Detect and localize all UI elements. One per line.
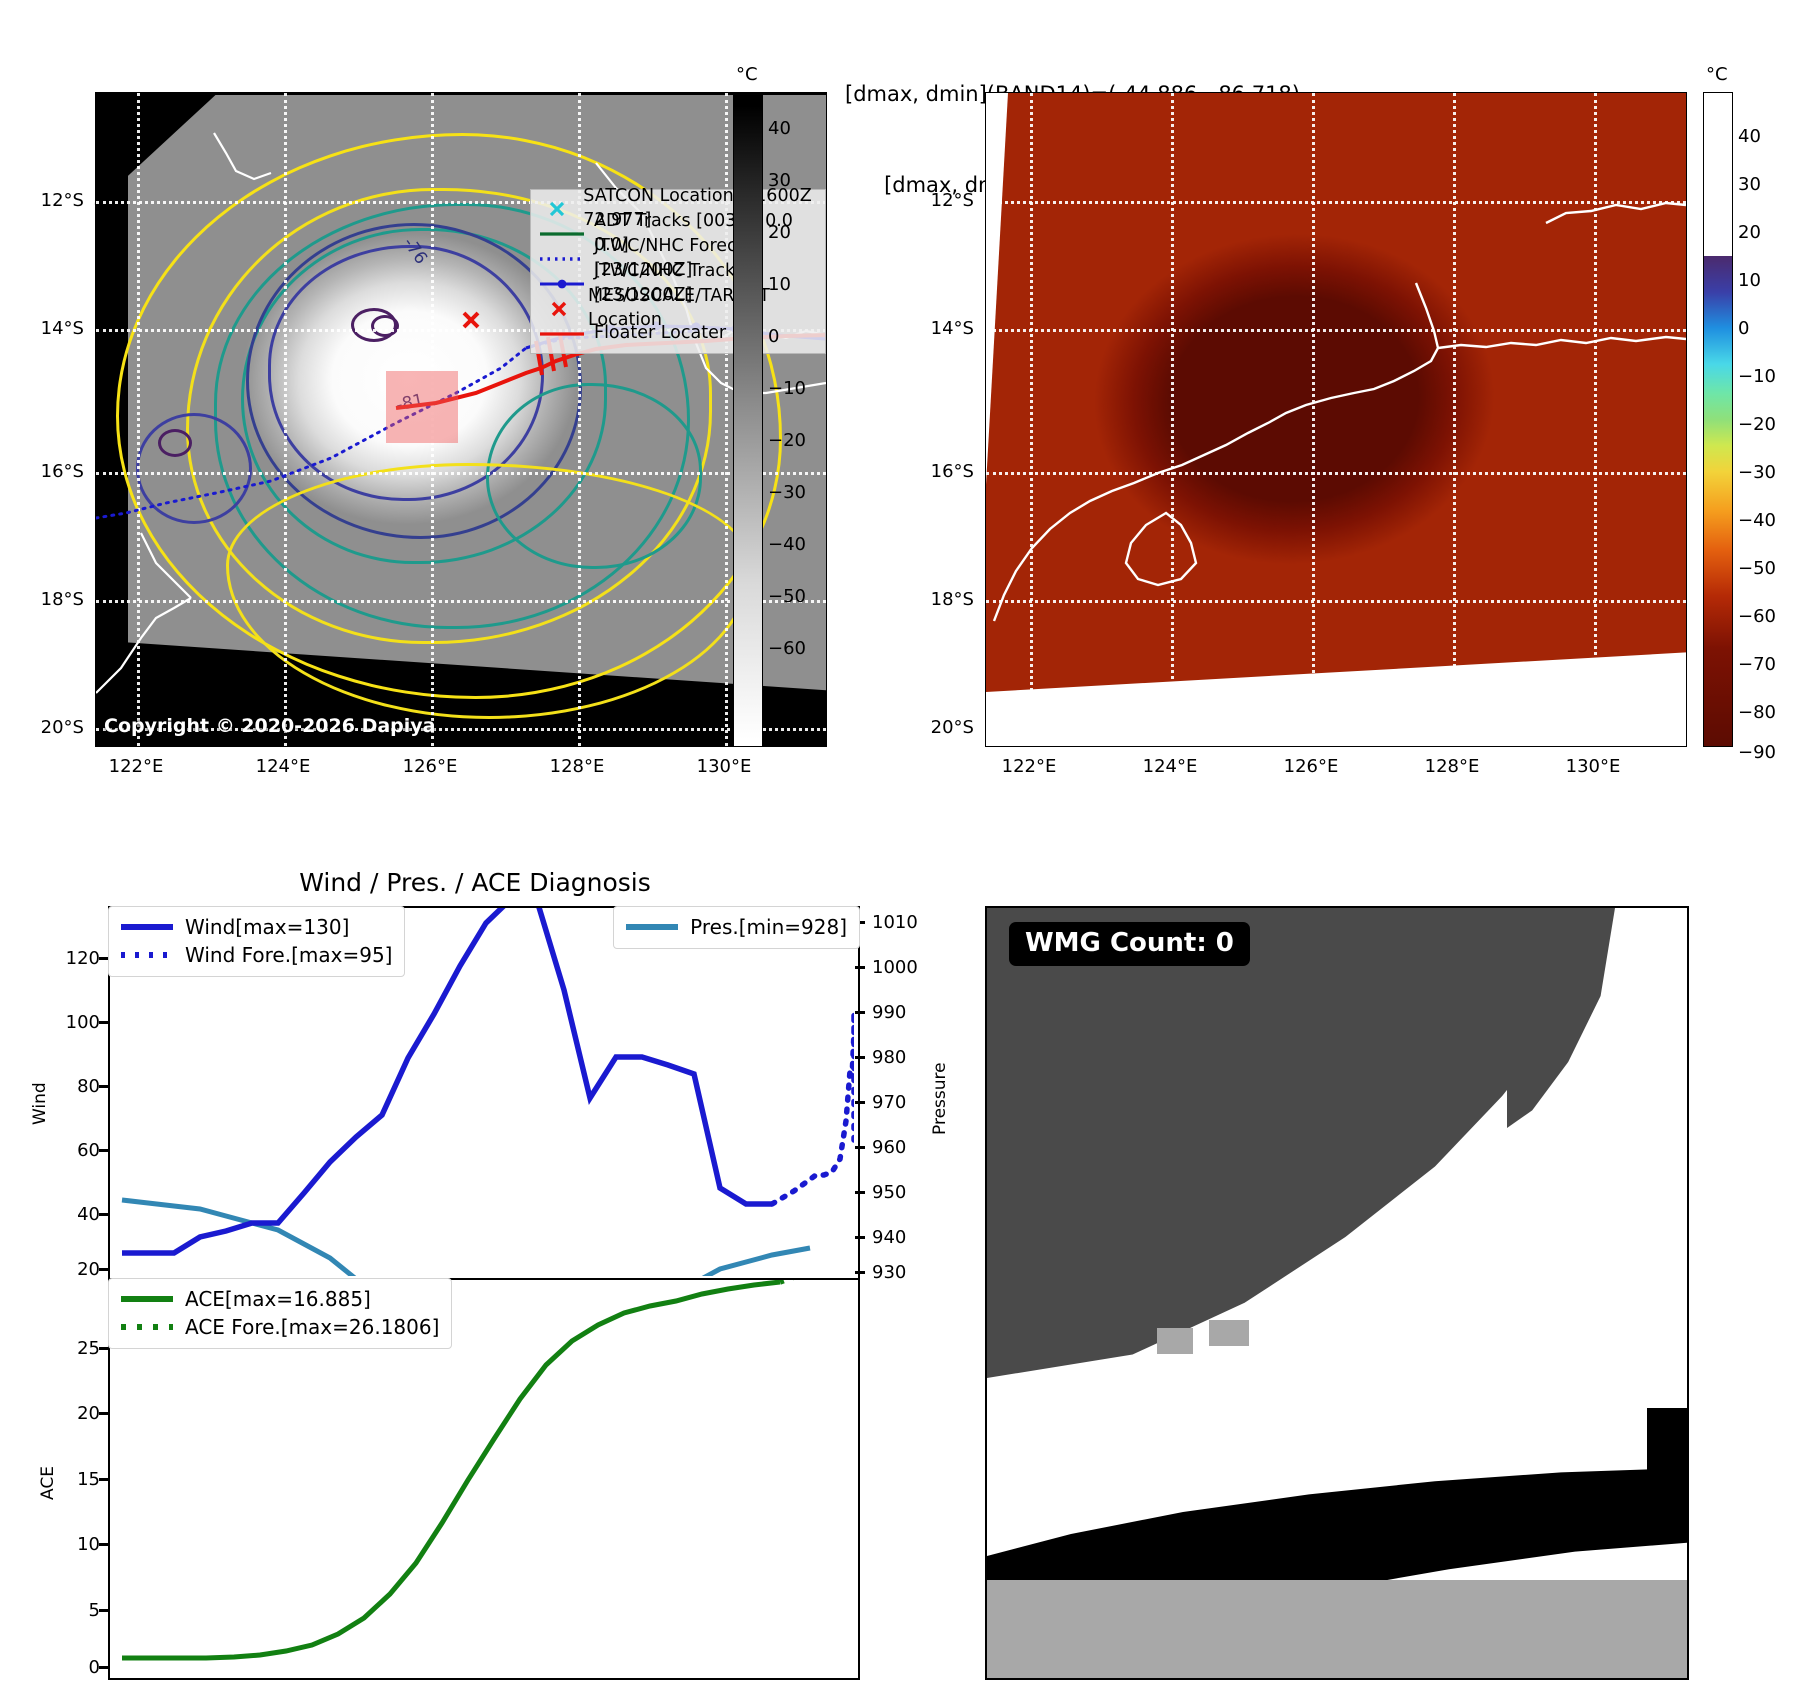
pressure-legend[interactable]: Pres.[min=928] [613,906,860,949]
awv-lon-label-130E: 130°E [1553,756,1633,777]
cbar-ir-tick: 30 [1738,174,1761,195]
lat-label-12S: 12°S [14,190,84,211]
cbar-gray-tick: 0 [768,326,779,347]
pressure-ytick: 940 [872,1227,932,1248]
gridline-124E [1171,93,1174,746]
cbar-gray-tick: −50 [768,586,806,607]
cbar-gray-tick: −40 [768,534,806,555]
wind-tickmark [99,1149,109,1152]
ace-ytick: 15 [44,1469,100,1490]
wmg-region-lightgray-patch-d [1453,1608,1483,1632]
ace-ytick: 10 [44,1534,100,1555]
jtwc-track-line-dot-icon [539,278,585,290]
gridline-18S [986,600,1686,603]
cbar-gray-tick: 30 [768,170,791,191]
gridline-14S [986,329,1686,332]
lon-label-124E: 124°E [243,756,323,777]
ace-tickmark [99,1609,109,1612]
cbar-ir-tick: −10 [1738,366,1776,387]
pressure-tickmark [855,1101,865,1104]
gridline-130E [1594,93,1597,746]
pressure-tickmark [855,1271,865,1274]
legend-item-wind[interactable]: Wind[max=130] [119,913,392,941]
pressure-tickmark [855,1011,865,1014]
wmg-region-darkgray-right [1507,908,1687,1128]
awv-lat-label-20S: 20°S [904,717,974,738]
legend-item-wind-forecast[interactable]: Wind Fore.[max=95] [119,941,392,969]
awv-lat-label-14S: 14°S [904,318,974,339]
wmg-region-lightgray-patch-c [1391,1614,1425,1638]
mesoscale-target-marker [464,313,478,327]
pressure-ytick: 990 [872,1002,932,1023]
pressure-ytick: 1010 [872,912,932,933]
cbar-gray-tick: 20 [768,222,791,243]
lat-label-16S: 16°S [14,461,84,482]
cbar-ir-tick: −40 [1738,510,1776,531]
wmg-region-black-right [1647,1408,1689,1478]
gridline-128E [1453,93,1456,746]
enhanced-ir-colorbar [1703,92,1733,747]
map-legend: SATCON Locations [1600Z 72 977] ADT Trac… [530,189,826,354]
copyright-text: Copyright © 2020-2026 Dapiya [104,715,435,737]
cbar-gray-tick: −10 [768,378,806,399]
jtwc-forecast-dotted-icon [539,255,585,263]
ace-tickmark [99,1412,109,1415]
wind-ytick: 20 [44,1259,100,1280]
cbar-ir-tick: 0 [1738,318,1749,339]
cbar-gray-tick: −20 [768,430,806,451]
awv-lon-label-128E: 128°E [1412,756,1492,777]
ace-line-icon [119,1294,175,1304]
mesoscale-x-icon [539,299,579,319]
wmg-panel[interactable]: WMG Count: 0 [985,906,1689,1680]
himawari-band14-map[interactable]: -76 -81 Copyright © 2020-2026 Dapiya [95,92,827,747]
wmg-region-darkgray [987,908,1547,1378]
lat-label-20S: 20°S [14,717,84,738]
cbar-ir-tick: −80 [1738,702,1776,723]
cbar-ir-tick: −70 [1738,654,1776,675]
ace-forecast-dotted-icon [119,1322,175,1332]
ace-legend[interactable]: ACE[max=16.885] ACE Fore.[max=26.1806] [108,1278,452,1349]
legend-item-ace[interactable]: ACE[max=16.885] [119,1285,439,1313]
lat-label-14S: 14°S [14,318,84,339]
cbar-ir-tick: −90 [1738,742,1776,763]
ace-forecast-line [780,1280,854,1282]
legend-item-pressure[interactable]: Pres.[min=928] [624,913,847,941]
floater-line-icon [539,330,585,338]
ace-chart[interactable]: ACE[max=16.885] ACE Fore.[max=26.1806] [108,1278,860,1680]
legend-label: ACE[max=16.885] [185,1285,371,1313]
wind-ytick: 120 [44,948,100,969]
awv-lat-label-18S: 18°S [904,589,974,610]
legend-item-mesoscale[interactable]: MESOSCALE/TARGET Location [539,296,815,321]
wind-ytick: 60 [44,1140,100,1161]
pressure-tickmark [855,1236,865,1239]
awv-lat-label-16S: 16°S [904,461,974,482]
wmg-region-midgray-patch-a [1157,1328,1193,1354]
awv-lon-label-126E: 126°E [1271,756,1351,777]
pressure-ytick: 1000 [872,957,932,978]
legend-label: ACE Fore.[max=26.1806] [185,1313,439,1341]
wind-pressure-chart[interactable]: Wind[max=130] Wind Fore.[max=95] Pres.[m… [108,906,860,1282]
wind-ytick: 40 [44,1204,100,1225]
cbar-ir-tick: 20 [1738,222,1761,243]
legend-label: Wind[max=130] [185,913,349,941]
legend-label: Wind Fore.[max=95] [185,941,392,969]
adt-line-icon [539,230,585,238]
pressure-ytick: 980 [872,1047,932,1068]
ir-colorbar-title: °C [1706,64,1728,85]
awv-coastline-overlay [986,93,1686,746]
cbar-ir-tick: 10 [1738,270,1761,291]
wmg-region-midgray-patch-b [1209,1320,1249,1346]
wind-tickmark [99,1213,109,1216]
cbar-ir-tick: −30 [1738,462,1776,483]
lon-label-126E: 126°E [390,756,470,777]
lon-label-128E: 128°E [537,756,617,777]
gridline-126E [1312,93,1315,746]
ace-ytick: 25 [44,1338,100,1359]
awv-lat-label-12S: 12°S [904,190,974,211]
gridline-122E [1030,93,1033,746]
cbar-ir-tick: −60 [1738,606,1776,627]
target-area-box[interactable] [386,371,458,443]
awv-lon-label-124E: 124°E [1130,756,1210,777]
ace-ytick: 20 [44,1403,100,1424]
pressure-tickmark [855,966,865,969]
cbar-gray-tick: −80 [768,728,806,749]
ace-tickmark [99,1347,109,1350]
wind-forecast-dotted-icon [119,950,175,960]
cbar-gray-tick: −60 [768,638,806,659]
legend-item-ace-forecast[interactable]: ACE Fore.[max=26.1806] [119,1313,439,1341]
awv-lon-label-122E: 122°E [989,756,1069,777]
pressure-ytick: 960 [872,1137,932,1158]
pressure-ytick: 970 [872,1092,932,1113]
pressure-tickmark [855,1146,865,1149]
pressure-line [122,1200,810,1276]
wind-legend[interactable]: Wind[max=130] Wind Fore.[max=95] [108,906,405,977]
wind-ytick: 100 [44,1012,100,1033]
gridline-12S [986,201,1686,204]
cbar-gray-tick: −30 [768,482,806,503]
cbar-ir-tick: −50 [1738,558,1776,579]
awv-enhanced-ir-map[interactable] [985,92,1687,747]
cbar-gray-tick: −70 [768,690,806,711]
ace-ytick: 5 [44,1600,100,1621]
legend-label: Floater Locater [594,322,726,345]
lon-label-122E: 122°E [96,756,176,777]
lon-label-130E: 130°E [684,756,764,777]
cbar-gray-tick: 10 [768,274,791,295]
pressure-ytick: 930 [872,1262,932,1283]
gridline-16S [986,472,1686,475]
cbar-gray-tick: 40 [768,118,791,139]
diagnosis-title: Wind / Pres. / ACE Diagnosis [95,868,855,897]
pressure-axis-label: Pressure [930,1062,950,1135]
lat-label-18S: 18°S [14,589,84,610]
satcon-x-icon [539,199,574,219]
pressure-tickmark [855,1191,865,1194]
wind-tickmark [99,1268,109,1271]
wind-tickmark [99,1085,109,1088]
pressure-line-icon [624,922,680,932]
ace-tickmark [99,1666,109,1669]
grayscale-colorbar [733,92,763,747]
ace-tickmark [99,1478,109,1481]
cbar-ir-tick: −20 [1738,414,1776,435]
wind-forecast-line [772,1012,854,1204]
ace-tickmark [99,1543,109,1546]
wind-tickmark [99,1021,109,1024]
wmg-count-badge: WMG Count: 0 [1009,922,1250,966]
wmg-region-white-gap [1623,994,1653,1020]
grayscale-colorbar-title: °C [736,64,758,85]
legend-label: Pres.[min=928] [690,913,847,941]
ace-ytick: 0 [44,1657,100,1678]
pressure-tickmark [855,1056,865,1059]
cbar-ir-tick: 40 [1738,126,1761,147]
wind-line-icon [119,922,175,932]
wind-ytick: 80 [44,1076,100,1097]
wmg-region-lightgray-bottom [987,1580,1687,1680]
pressure-ytick: 950 [872,1182,932,1203]
